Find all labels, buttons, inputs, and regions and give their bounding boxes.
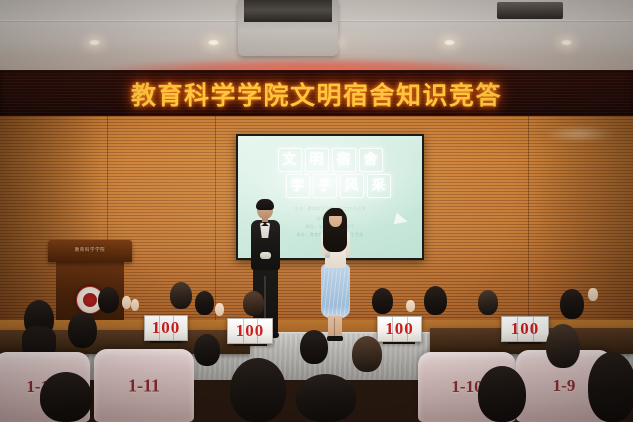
score-placard-value: 100 [236,321,265,341]
auditorium-photo: 教育科学学院文明宿舍知识竞答 文 明 宿 舍 学 子 风 采 主办：教育科学学院… [0,0,633,422]
audience-head [243,291,264,316]
podium-institution-label: 教育科学学院 [48,247,132,253]
female-host-fringe [327,208,344,216]
clapping-hand [131,299,139,311]
projector-body [497,2,563,19]
audience-head [352,336,382,372]
audience-head-foreground [296,374,356,422]
female-host [318,206,352,342]
female-host-skirt [321,264,350,318]
projector-housing [244,0,332,22]
male-host-cue-card [260,252,271,259]
audience-head [560,289,584,319]
clapping-hand [215,303,224,316]
clapping-hand [122,296,131,309]
score-placard[interactable]: 100 [501,316,549,342]
led-banner: 教育科学学院文明宿舍知识竞答 [0,70,633,118]
female-host-shoes [327,336,343,341]
audience-head [372,288,393,314]
podium-top-panel: 教育科学学院 [48,240,132,262]
female-host-leg-split [334,318,335,338]
audience-head [195,291,214,315]
audience-head [194,334,220,366]
score-placard[interactable]: 100 [377,316,422,342]
score-placard[interactable]: 100 [227,318,273,344]
ceiling-spotlight [560,39,573,46]
audience-head [546,324,580,368]
score-placard[interactable]: 100 [144,315,188,341]
audience-head-foreground [230,358,286,422]
audience-head [300,330,328,364]
ceiling-spotlight [88,39,101,46]
audience-head-foreground [40,372,92,422]
audience-head-foreground [588,352,633,422]
audience-head [424,286,447,315]
ceiling-spotlight [207,39,220,46]
score-placard-value: 100 [511,319,540,339]
seat-back: 1-11 [94,349,194,422]
ceiling-spotlight [443,39,456,46]
audience-head [170,282,192,309]
audience-head-foreground [478,366,526,422]
audience-head [478,290,498,315]
led-banner-text: 教育科学学院文明宿舍知识竞答 [0,76,633,112]
audience-head [98,287,119,313]
score-placard-value: 100 [385,319,414,339]
clapping-hand [406,300,415,312]
seat-number-label: 1-11 [94,375,194,396]
score-placard-value: 100 [152,318,181,338]
male-host-hair [256,199,274,210]
clapping-hand [588,288,598,301]
audience-head-foreground [68,312,97,348]
